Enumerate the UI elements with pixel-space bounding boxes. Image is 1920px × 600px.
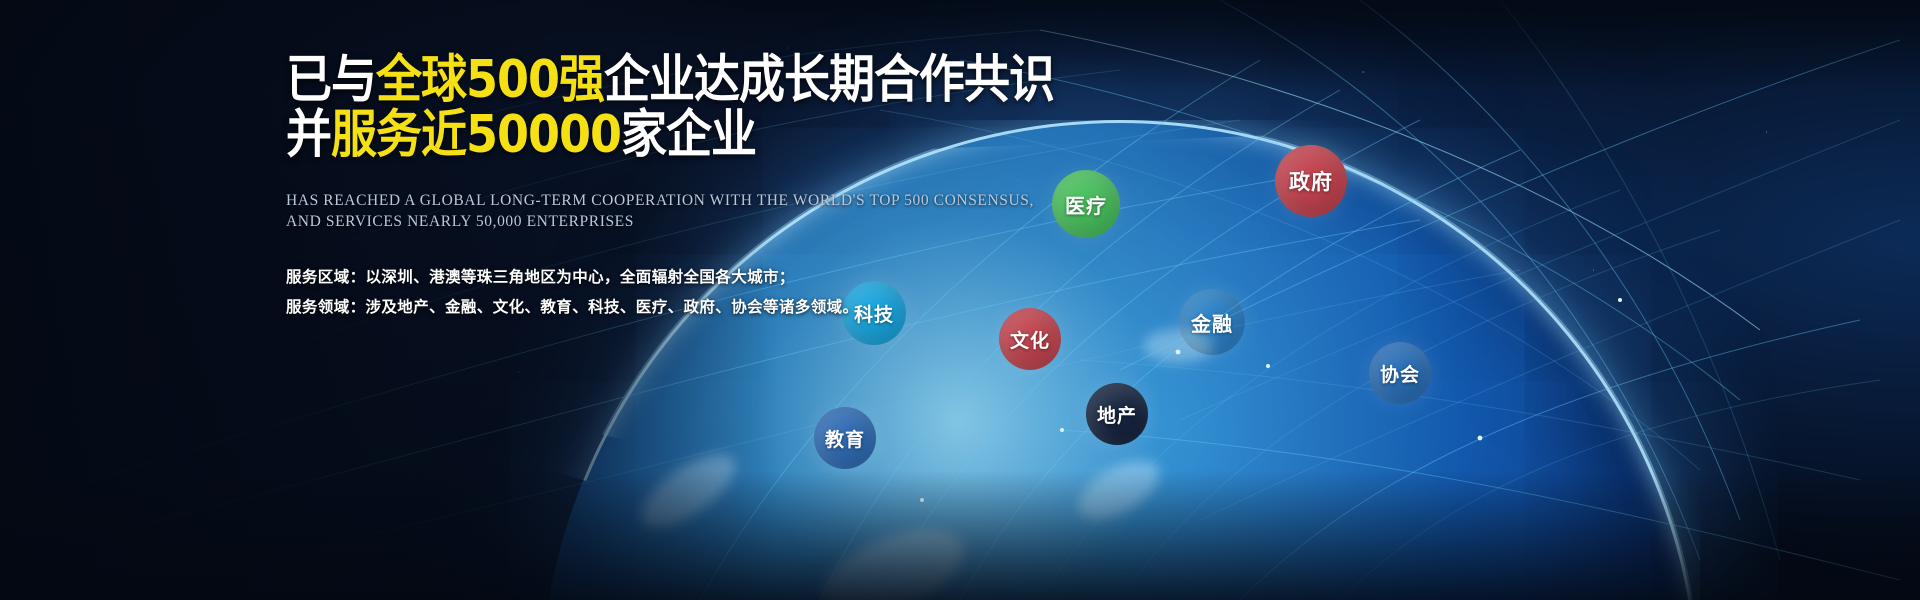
headline-part-plain-1: 已与 xyxy=(286,49,376,109)
headline-line-1: 已与全球500强企业达成长期合作共识 xyxy=(286,52,1046,107)
bottom-vignette xyxy=(0,470,1920,600)
industry-bubble-label: 金融 xyxy=(1191,308,1233,337)
promo-banner: 已与全球500强企业达成长期合作共识 并服务近50000家企业 HAS REAC… xyxy=(0,0,1920,600)
copy-block: 已与全球500强企业达成长期合作共识 并服务近50000家企业 HAS REAC… xyxy=(286,52,1046,322)
headline-part-plain-2: 企业达成长期合作共识 xyxy=(604,49,1054,109)
service-field-line: 服务领域：涉及地产、金融、文化、教育、科技、医疗、政府、协会等诸多领域。 xyxy=(286,292,1046,322)
industry-bubble[interactable]: 地产 xyxy=(1086,383,1148,445)
headline-part-plain-4: 家企业 xyxy=(621,104,756,164)
industry-bubble-label: 医疗 xyxy=(1065,190,1107,219)
industry-bubble-label: 文化 xyxy=(1010,326,1050,353)
industry-bubble[interactable]: 医疗 xyxy=(1052,170,1120,238)
headline-part-plain-3: 并 xyxy=(286,104,331,164)
industry-bubble-label: 地产 xyxy=(1097,401,1137,428)
headline-part-highlight-1: 全球500强 xyxy=(376,49,604,109)
subtitle-english-line-1: HAS REACHED A GLOBAL LONG-TERM COOPERATI… xyxy=(286,190,1046,211)
industry-bubble-label: 教育 xyxy=(825,425,865,452)
industry-bubble[interactable]: 协会 xyxy=(1369,342,1431,404)
industry-bubble-label: 政府 xyxy=(1289,166,1333,196)
industry-bubble-label: 协会 xyxy=(1380,360,1420,387)
headline-part-highlight-2: 服务近50000 xyxy=(331,104,621,164)
headline-line-2: 并服务近50000家企业 xyxy=(286,107,1046,162)
service-area-line: 服务区域：以深圳、港澳等珠三角地区为中心，全面辐射全国各大城市； xyxy=(286,262,1046,292)
industry-bubble[interactable]: 教育 xyxy=(814,407,876,469)
subtitle-english-line-2: AND SERVICES NEARLY 50,000 ENTERPRISES xyxy=(286,211,1046,232)
industry-bubble[interactable]: 金融 xyxy=(1179,289,1245,355)
subtitle-english: HAS REACHED A GLOBAL LONG-TERM COOPERATI… xyxy=(286,190,1046,232)
industry-bubble[interactable]: 政府 xyxy=(1275,145,1347,217)
service-description: 服务区域：以深圳、港澳等珠三角地区为中心，全面辐射全国各大城市； 服务领域：涉及… xyxy=(286,262,1046,322)
